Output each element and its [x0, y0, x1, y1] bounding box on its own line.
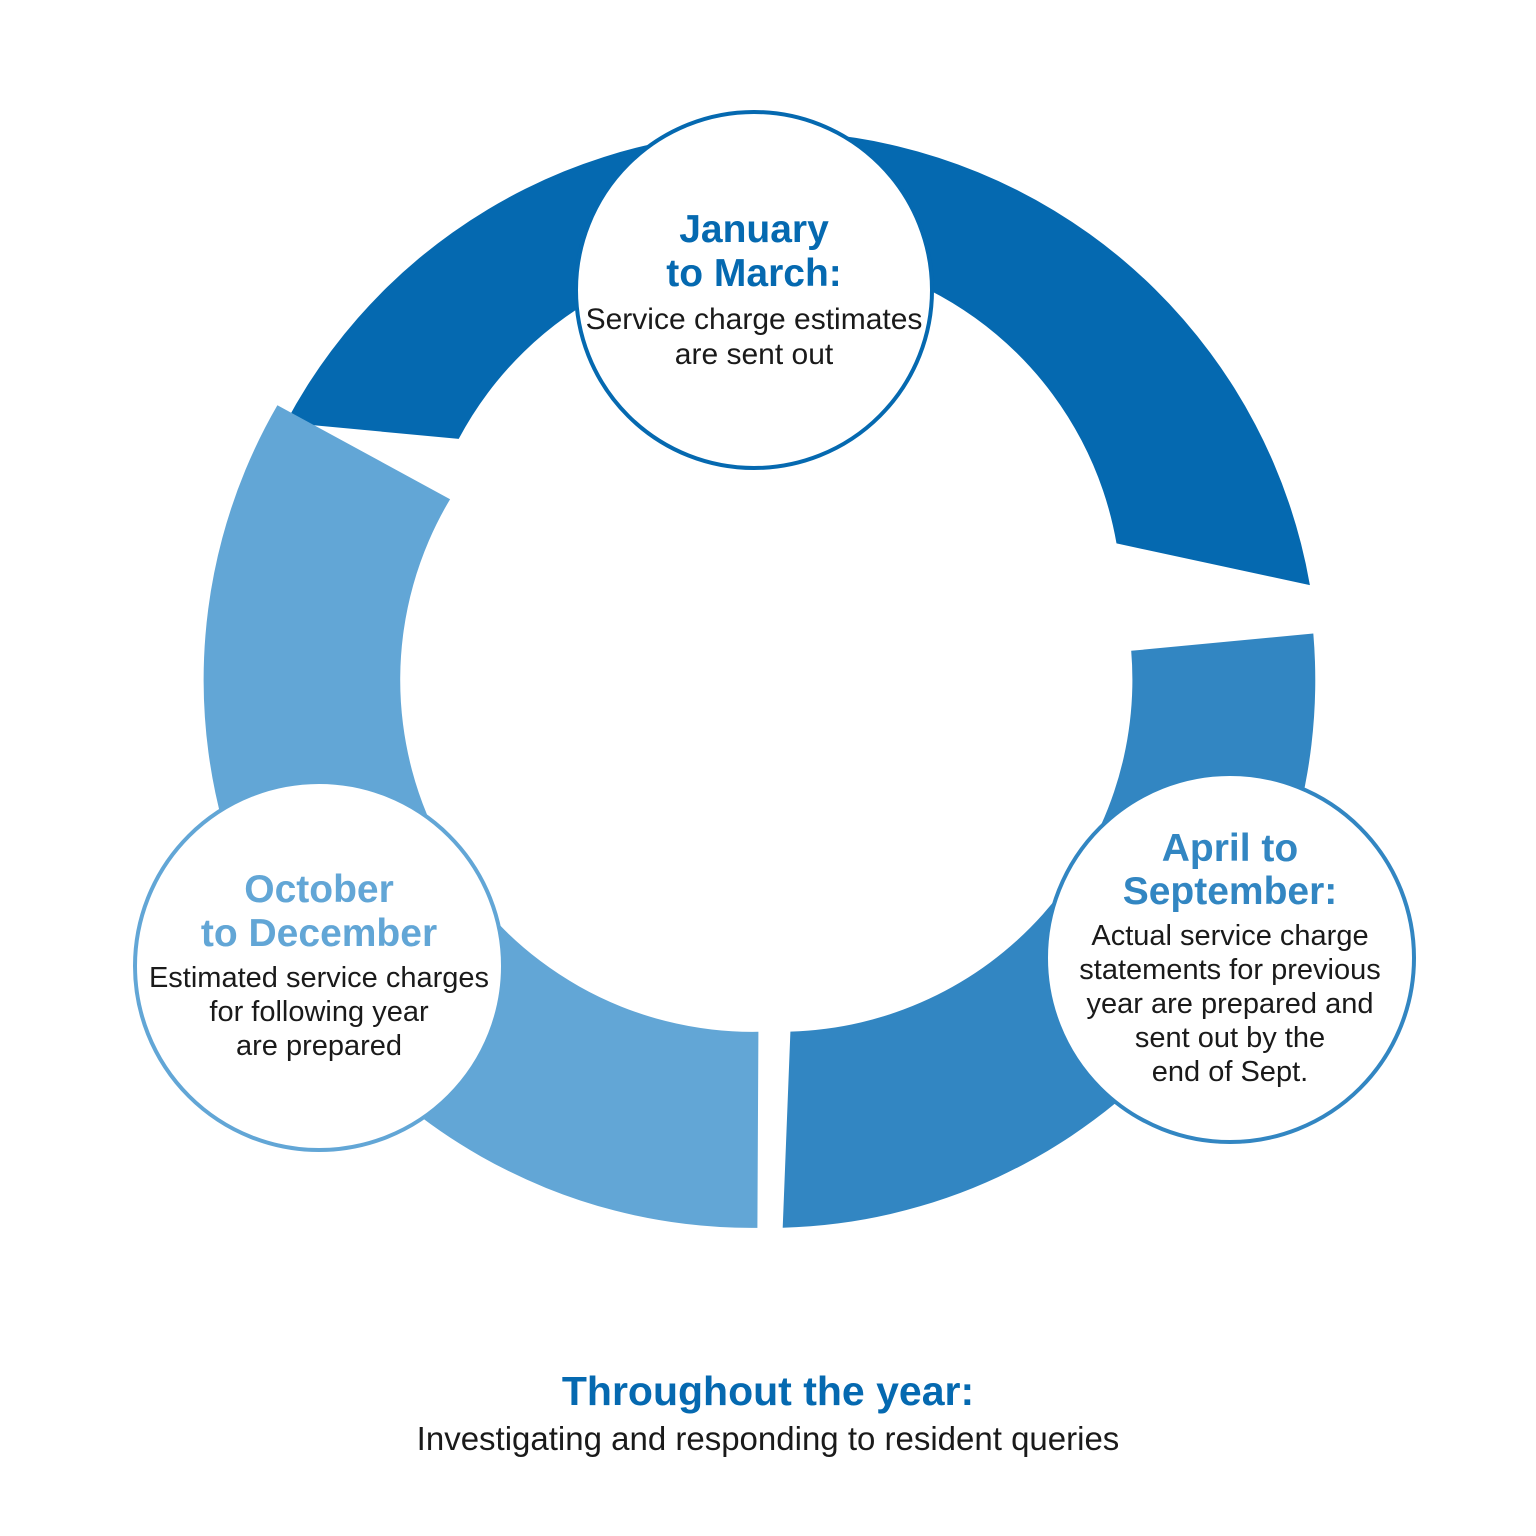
node-heading-october: October to December [201, 868, 437, 955]
node-body-january: Service charge estimates are sent out [586, 302, 923, 372]
node-body-april: Actual service charge statements for pre… [1079, 920, 1380, 1090]
node-heading-january: January to March: [666, 208, 842, 295]
node-body-october: Estimated service charges for following … [149, 962, 489, 1064]
cycle-node-april-to-september[interactable]: April to September: Actual service charg… [1044, 772, 1416, 1144]
cycle-node-october-to-december[interactable]: October to December Estimated service ch… [133, 780, 505, 1152]
footer-subtitle: Investigating and responding to resident… [0, 1419, 1536, 1459]
footer-title: Throughout the year: [0, 1368, 1536, 1415]
footer-caption: Throughout the year: Investigating and r… [0, 1368, 1536, 1459]
node-heading-april: April to September: [1123, 827, 1338, 914]
service-charge-cycle-diagram: January to March: Service charge estimat… [0, 0, 1536, 1536]
cycle-node-january-to-march[interactable]: January to March: Service charge estimat… [574, 110, 934, 470]
